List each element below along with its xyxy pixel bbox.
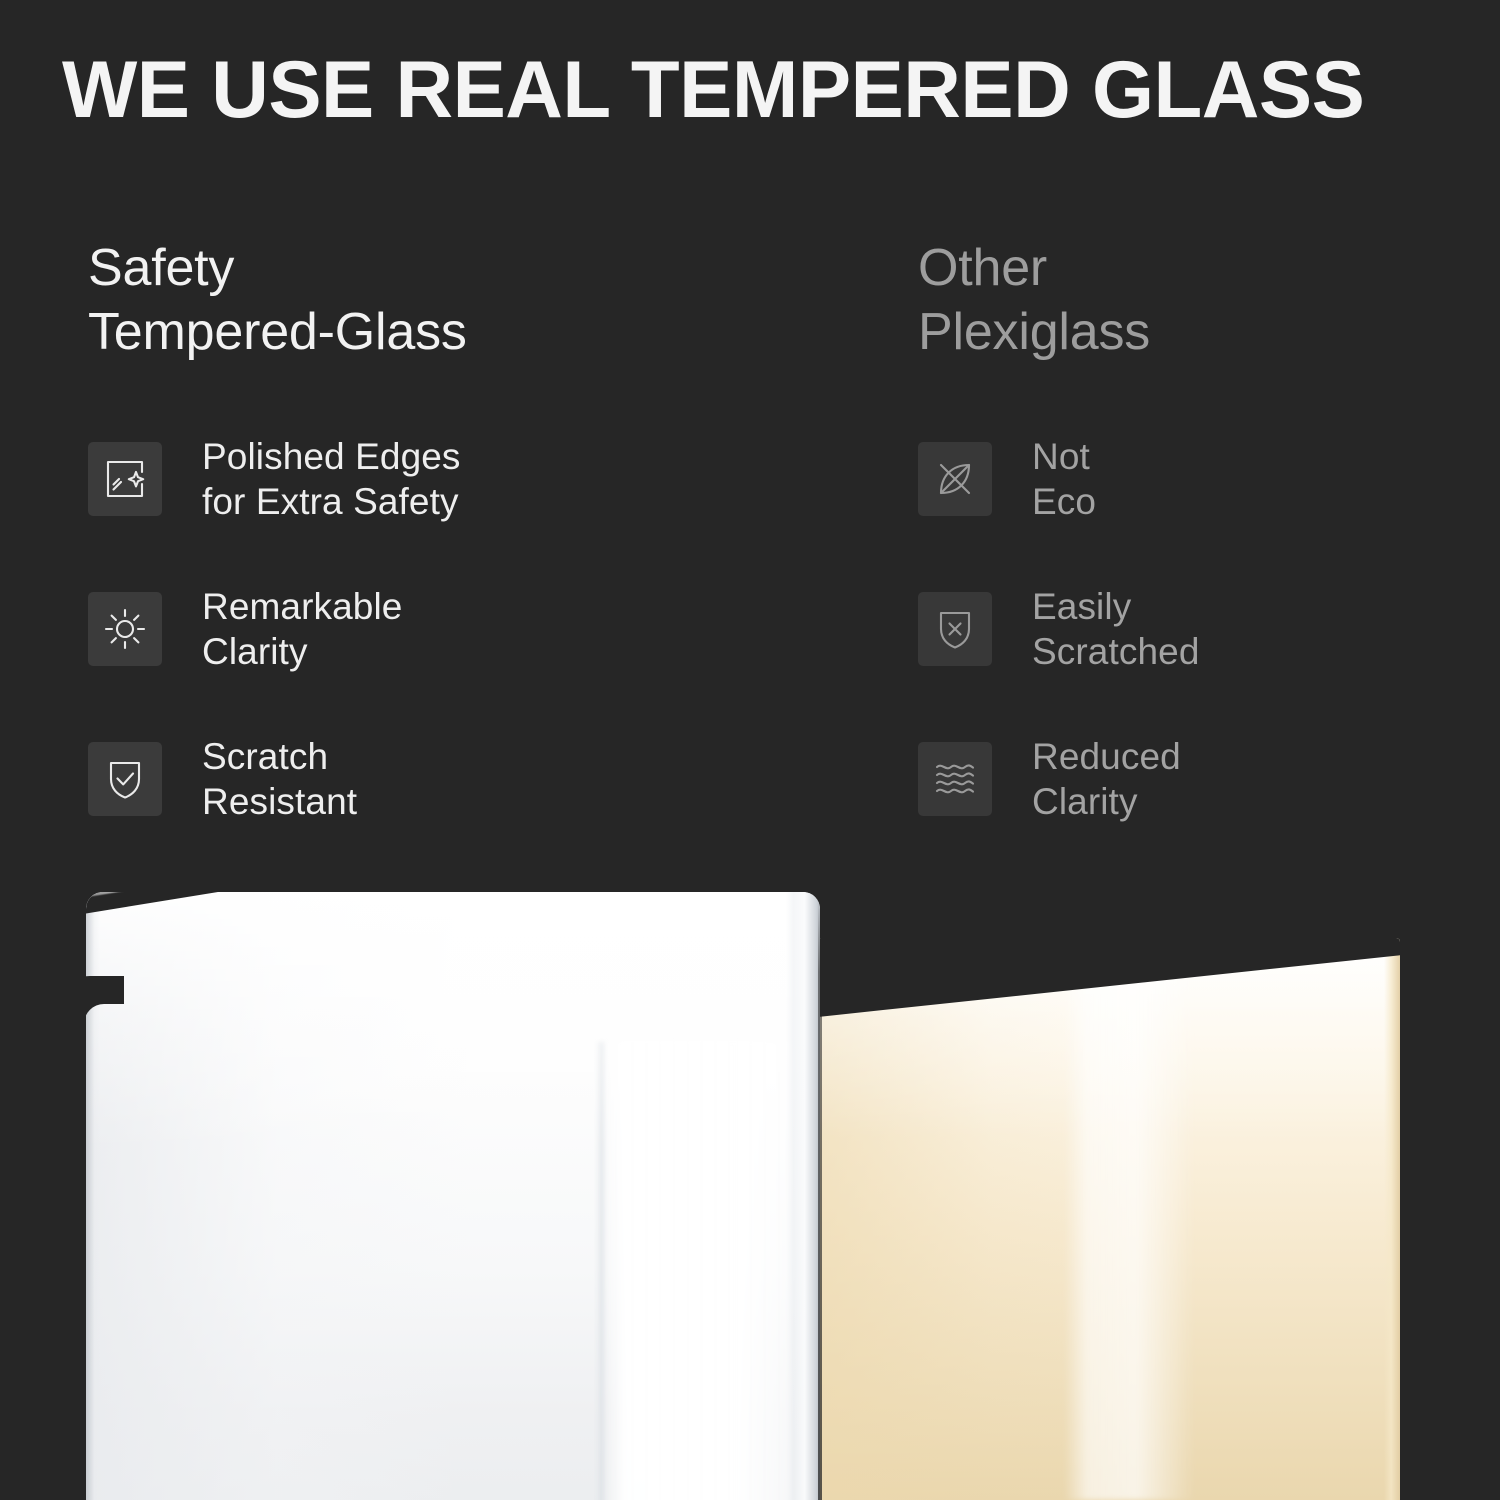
feature-easily-scratched: Easily Scratched (918, 590, 1458, 668)
glass-corner-top-right (782, 892, 820, 926)
feature-label-remarkable-clarity: Remarkable Clarity (202, 584, 402, 674)
feature-list-plexiglass: Not Eco Easily Scratched (918, 440, 1458, 818)
glass-corner-top-left (86, 1004, 124, 1044)
shield-check-icon (88, 742, 162, 816)
feature-remarkable-clarity: Remarkable Clarity (88, 590, 848, 668)
feature-label-easily-scratched: Easily Scratched (1032, 584, 1200, 674)
feature-label-polished-edges: Polished Edges for Extra Safety (202, 434, 461, 524)
feature-label-reduced-clarity: Reduced Clarity (1032, 734, 1181, 824)
wavy-lines-distortion-icon (918, 742, 992, 816)
glass-top-light (86, 892, 820, 1152)
feature-label-not-eco: Not Eco (1032, 434, 1096, 524)
feature-reduced-clarity: Reduced Clarity (918, 740, 1458, 818)
sun-clarity-icon (88, 592, 162, 666)
column-other-plexiglass: Other Plexiglass Not Eco (918, 236, 1458, 818)
comparison-columns: Safety Tempered-Glass Polished Edges for… (0, 236, 1500, 876)
shield-x-icon (918, 592, 992, 666)
panel-separation-gap (818, 900, 822, 1500)
plexiglass-panel-yellowed (818, 938, 1400, 1500)
polished-glass-sparkle-icon (88, 442, 162, 516)
feature-label-scratch-resistant: Scratch Resistant (202, 734, 357, 824)
feature-not-eco: Not Eco (918, 440, 1458, 518)
product-photo (0, 860, 1500, 1500)
column-title-safety-tempered-glass: Safety Tempered-Glass (88, 236, 848, 364)
plexi-right-edge (1384, 938, 1400, 1500)
tempered-glass-panel-white (86, 892, 820, 1500)
feature-polished-edges: Polished Edges for Extra Safety (88, 440, 848, 518)
feature-scratch-resistant: Scratch Resistant (88, 740, 848, 818)
glass-edge-thickness (786, 892, 820, 1500)
infographic-canvas: WE USE REAL TEMPERED GLASS Safety Temper… (0, 0, 1500, 1500)
glass-left-bevel (86, 892, 100, 1500)
column-safety-tempered-glass: Safety Tempered-Glass Polished Edges for… (88, 236, 848, 818)
page-title: WE USE REAL TEMPERED GLASS (62, 44, 1441, 136)
column-title-other-plexiglass: Other Plexiglass (918, 236, 1458, 364)
leaf-crossed-out-icon (918, 442, 992, 516)
feature-list-safety: Polished Edges for Extra Safety Remarkab… (88, 440, 848, 818)
